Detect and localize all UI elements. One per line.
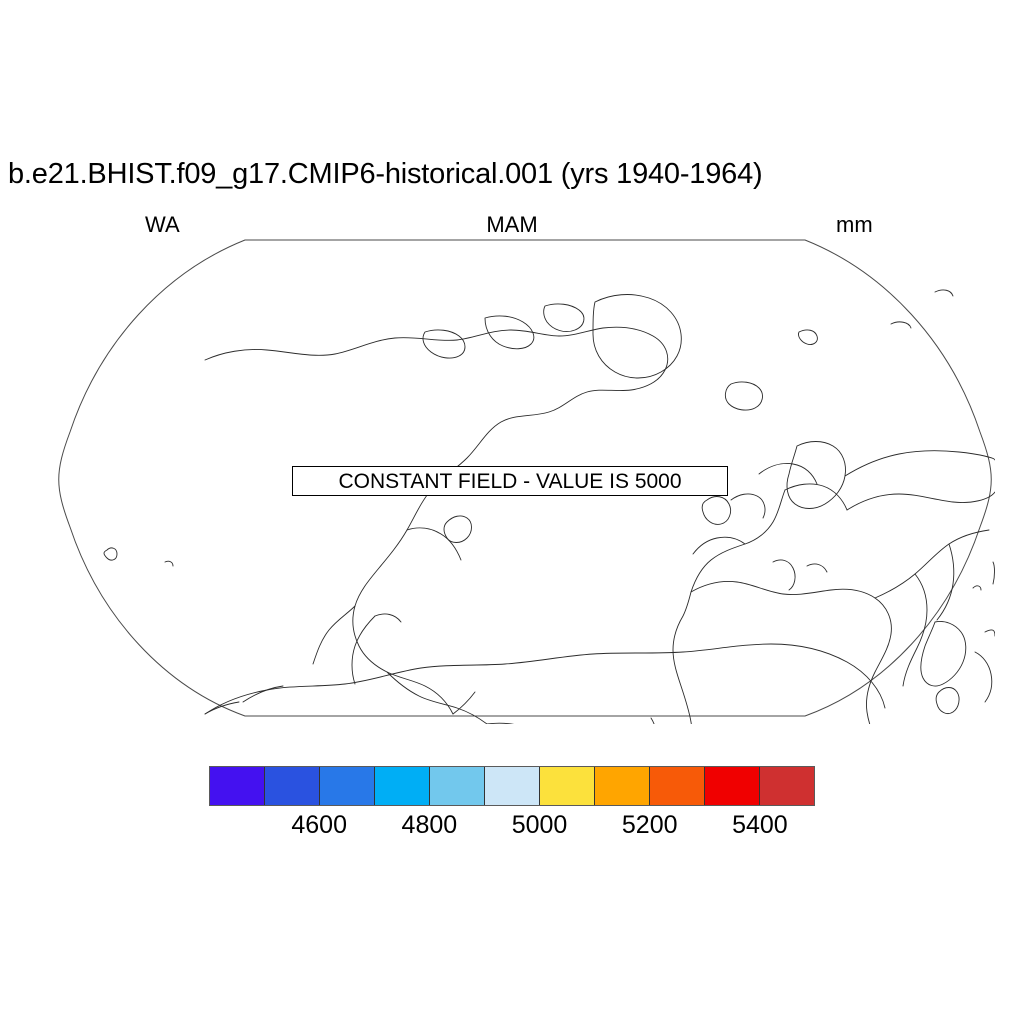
colorbar-swatch (375, 767, 430, 805)
colorbar-tick-label: 4600 (291, 810, 347, 840)
climate-map-figure: b.e21.BHIST.f09_g17.CMIP6-historical.001… (0, 0, 1024, 1024)
colorbar-tick-label: 4800 (402, 810, 458, 840)
colorbar-swatch (210, 767, 265, 805)
page-title: b.e21.BHIST.f09_g17.CMIP6-historical.001… (8, 157, 762, 191)
constant-field-annotation-box: CONSTANT FIELD - VALUE IS 5000 (292, 466, 728, 496)
constant-field-annotation-text: CONSTANT FIELD - VALUE IS 5000 (338, 471, 681, 492)
colorbar-swatch (760, 767, 814, 805)
colorbar-swatch (595, 767, 650, 805)
colorbar-swatch (320, 767, 375, 805)
colorbar-swatch (705, 767, 760, 805)
colorbar-swatch (485, 767, 540, 805)
colorbar (209, 766, 815, 806)
colorbar-tick-label: 5000 (512, 810, 568, 840)
colorbar-tick-label: 5400 (732, 810, 788, 840)
colorbar-swatch (540, 767, 595, 805)
coastlines (85, 290, 995, 724)
colorbar-strip (209, 766, 815, 806)
colorbar-tick-label: 5200 (622, 810, 678, 840)
colorbar-swatch (650, 767, 705, 805)
colorbar-swatch (265, 767, 320, 805)
colorbar-swatch (430, 767, 485, 805)
colorbar-tick-labels: 46004800500052005400 (209, 810, 815, 842)
